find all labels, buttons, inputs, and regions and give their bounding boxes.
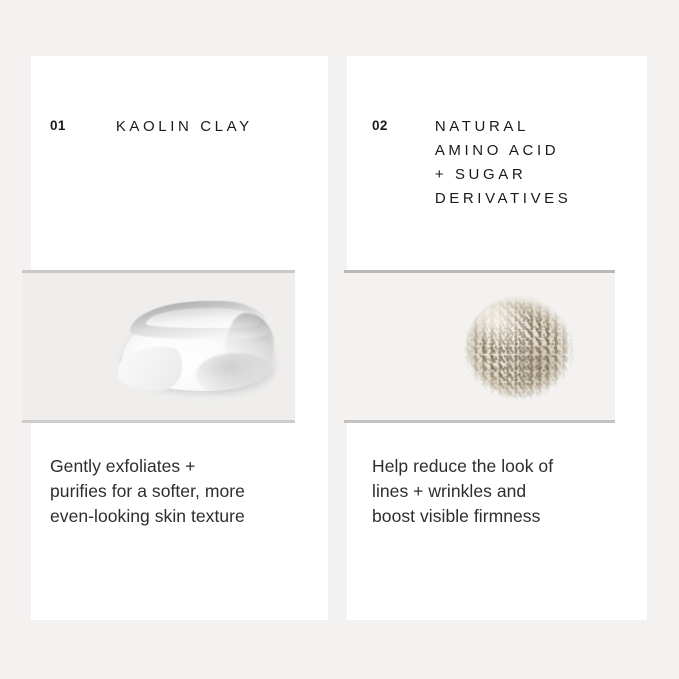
powder-highlight [477, 305, 529, 347]
ingredient-card-02: 02 NATURAL AMINO ACID + SUGAR DERIVATIVE… [347, 56, 647, 620]
title-line: DERIVATIVES [435, 187, 639, 211]
card-header-02: 02 NATURAL AMINO ACID + SUGAR DERIVATIVE… [347, 56, 647, 270]
description-line: even-looking skin texture [50, 504, 318, 529]
title-line: + SUGAR [435, 163, 639, 187]
ingredient-title-01: KAOLIN CLAY [116, 115, 320, 139]
header-row-02: 02 NATURAL AMINO ACID + SUGAR DERIVATIVE… [372, 115, 639, 211]
description-line: lines + wrinkles and [372, 479, 637, 504]
ingredient-card-01: 01 KAOLIN CLAY Gently exfoliates + [31, 56, 328, 620]
description-line: Gently exfoliates + [50, 454, 318, 479]
powder-pile-shape [463, 291, 575, 403]
title-line: KAOLIN CLAY [116, 115, 320, 139]
swatch-image-clay-smear [22, 273, 295, 420]
title-line: AMINO ACID [435, 139, 639, 163]
title-line: NATURAL [435, 115, 639, 139]
ingredient-number-02: 02 [372, 115, 388, 136]
description-line: purifies for a softer, more [50, 479, 318, 504]
ingredient-description-02: Help reduce the look of lines + wrinkles… [372, 454, 637, 529]
swatch-band-02 [344, 270, 615, 423]
ingredient-title-02: NATURAL AMINO ACID + SUGAR DERIVATIVES [435, 115, 639, 211]
ingredient-description-01: Gently exfoliates + purifies for a softe… [50, 454, 318, 529]
header-row-01: 01 KAOLIN CLAY [50, 115, 320, 139]
card-header-01: 01 KAOLIN CLAY [31, 56, 328, 270]
ingredient-benefits-graphic: 01 KAOLIN CLAY Gently exfoliates + [0, 0, 679, 679]
ingredient-number-01: 01 [50, 115, 66, 136]
description-line: boost visible firmness [372, 504, 637, 529]
clay-smear-inner-shadow [196, 353, 276, 397]
description-line: Help reduce the look of [372, 454, 637, 479]
powder-shadow [507, 341, 563, 387]
clay-smear-shape [118, 295, 282, 400]
swatch-band-01 [22, 270, 295, 423]
swatch-image-powder-pile [344, 273, 615, 420]
